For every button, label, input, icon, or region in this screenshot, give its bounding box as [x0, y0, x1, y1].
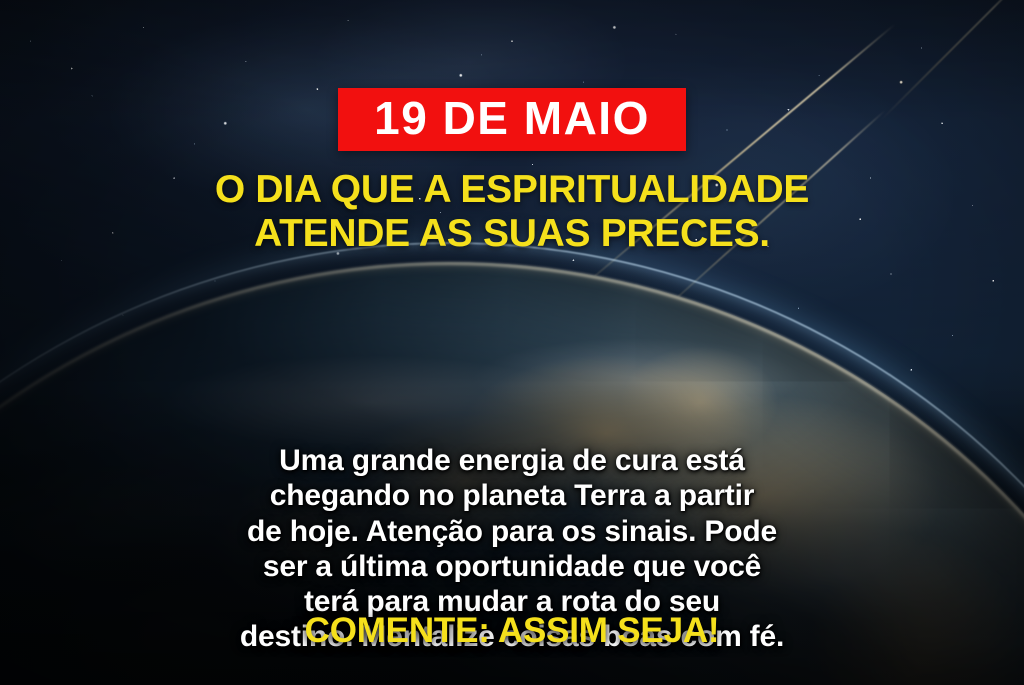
poster-canvas: 19 DE MAIO O DIA QUE A ESPIRITUALIDADE A… — [0, 0, 1024, 685]
date-banner-label: 19 DE MAIO — [374, 95, 650, 141]
date-banner: 19 DE MAIO — [338, 88, 686, 151]
call-to-action-text: COMENTE: ASSIM SEJA! — [0, 613, 1024, 648]
poster-content: 19 DE MAIO O DIA QUE A ESPIRITUALIDADE A… — [0, 0, 1024, 685]
headline-text: O DIA QUE A ESPIRITUALIDADE ATENDE AS SU… — [175, 168, 849, 255]
